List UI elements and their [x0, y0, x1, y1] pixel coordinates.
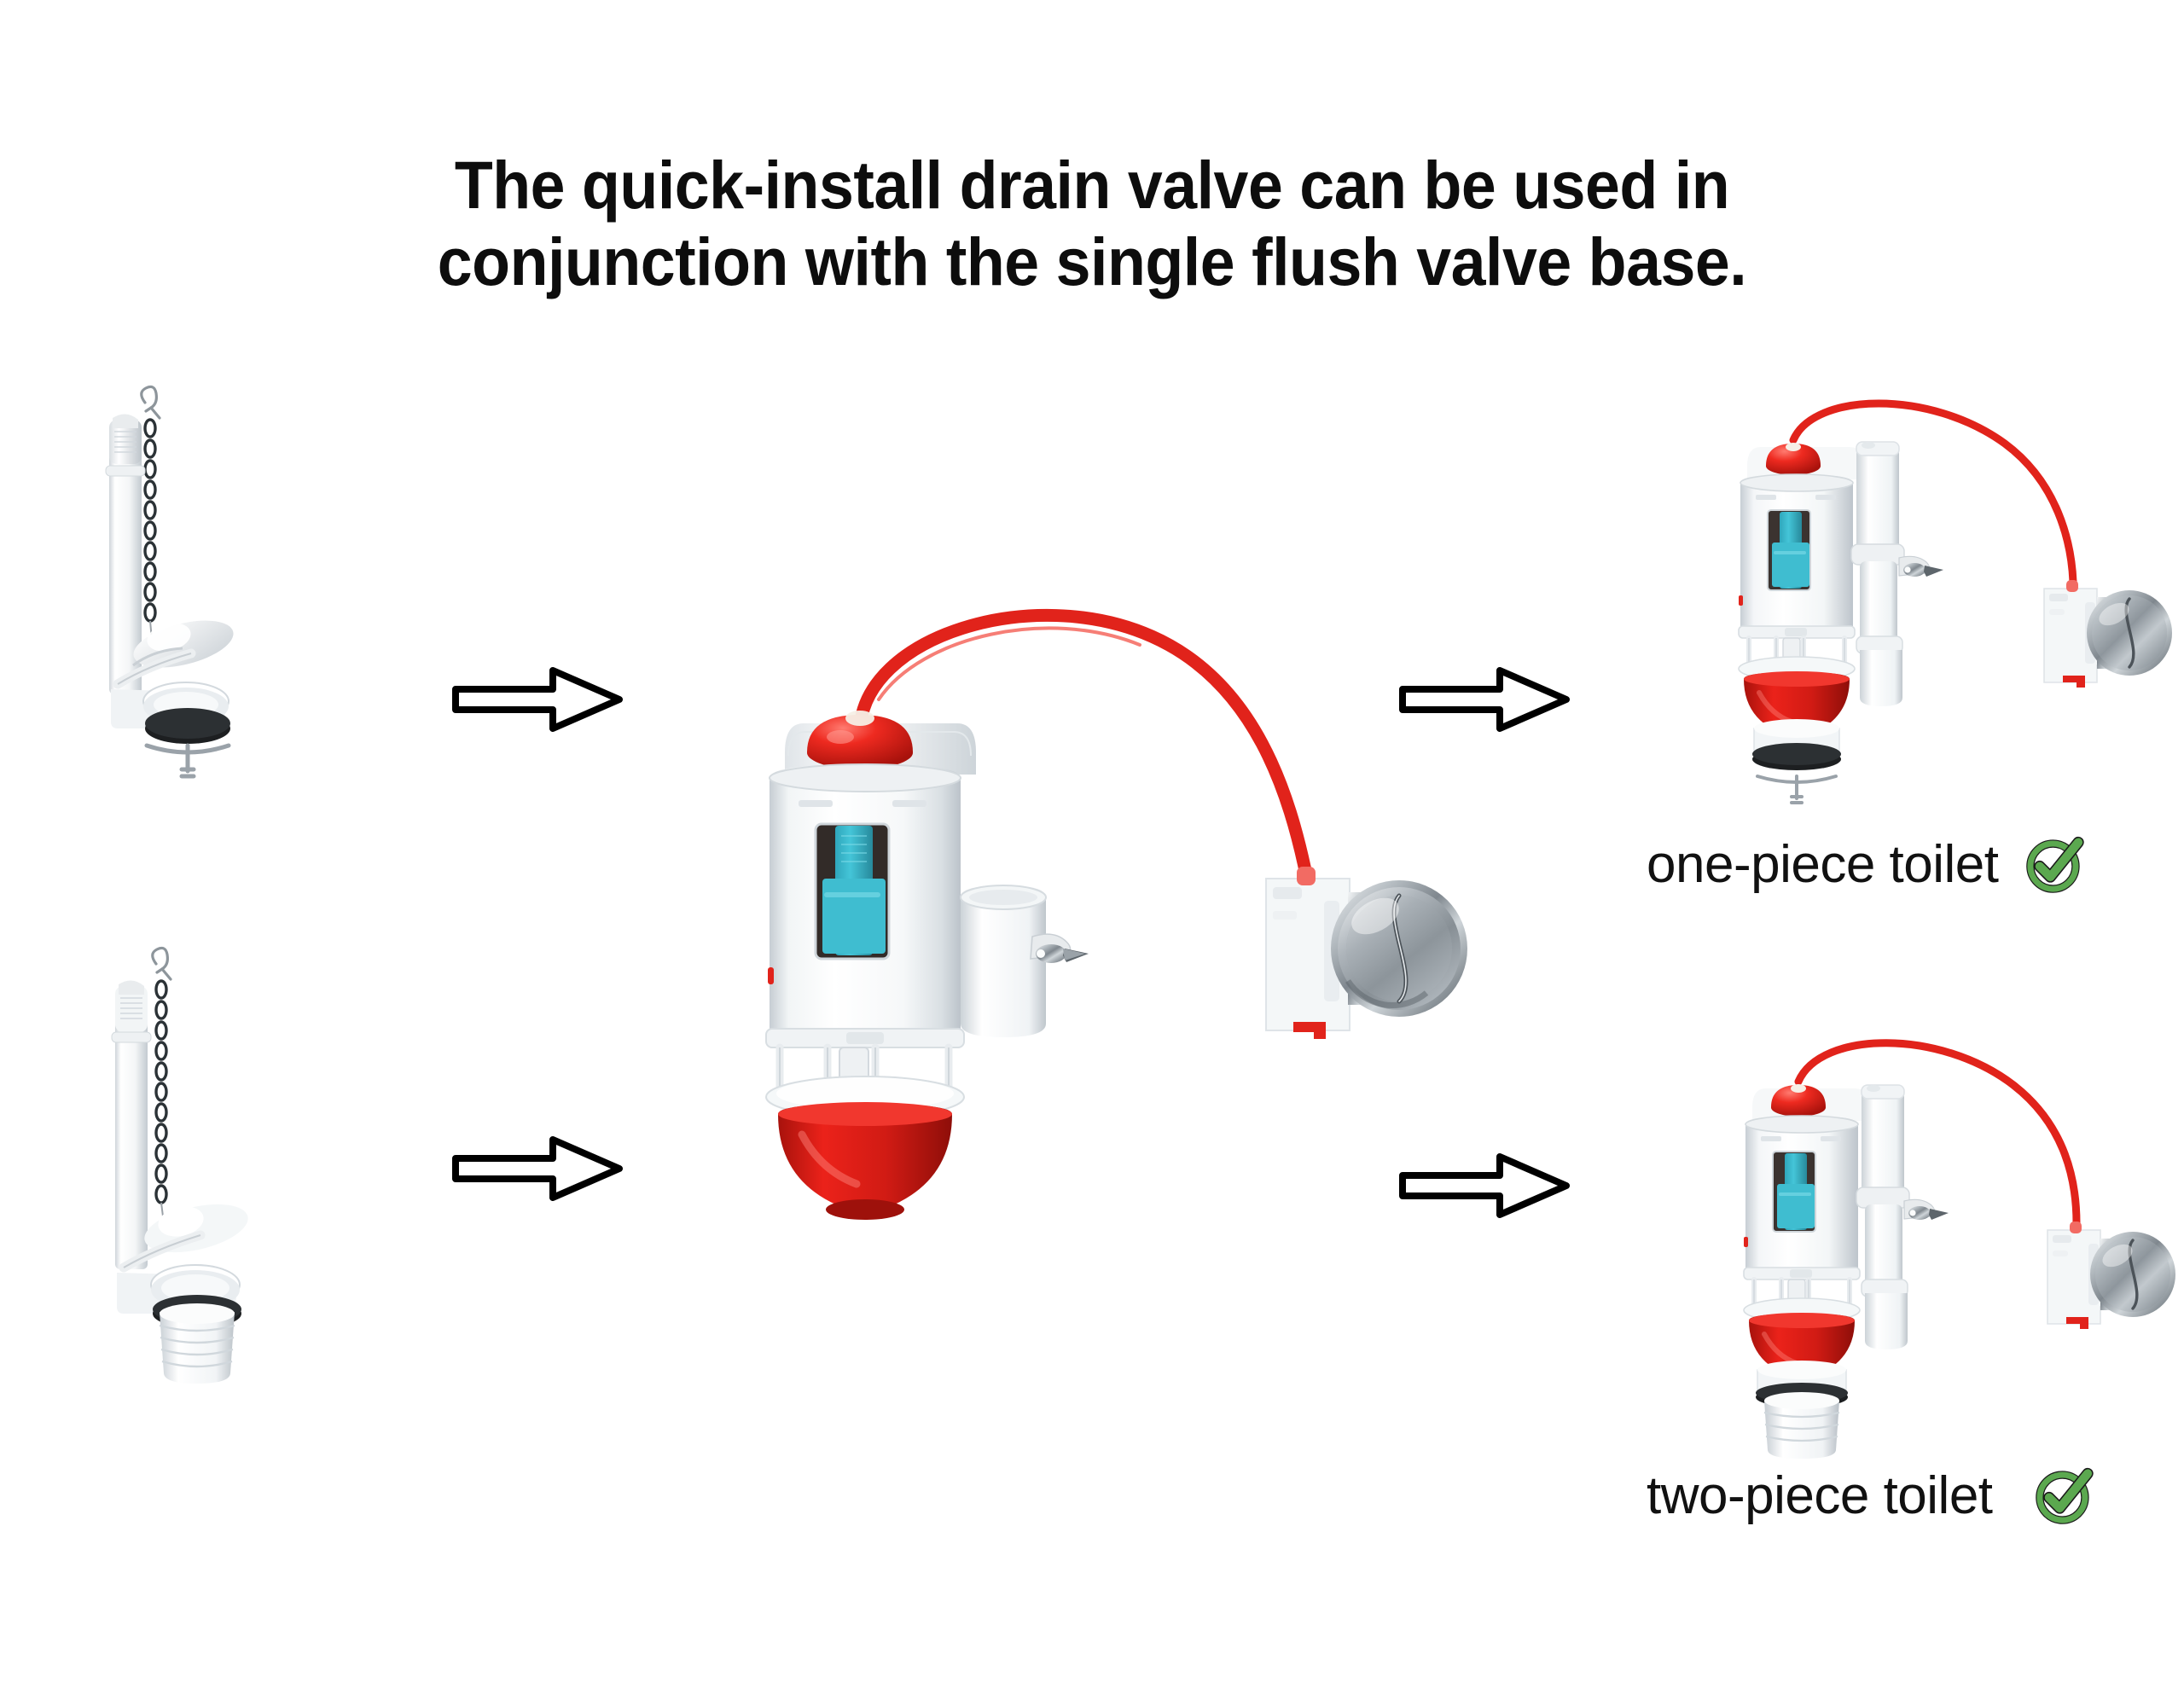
red-seal [778, 1102, 952, 1220]
rubber-gasket [145, 708, 230, 744]
teal-float-window [1773, 1152, 1815, 1232]
green-check-circle-icon [2030, 1463, 2097, 1529]
chrome-push-button-assembly [2047, 1221, 2175, 1329]
valve-body [1739, 474, 1853, 626]
lift-chain [156, 981, 166, 1223]
valve-body [768, 764, 961, 1029]
label-one-piece-toilet: one-piece toilet [1647, 832, 2088, 898]
metal-clip-fitting [1904, 1199, 1949, 1220]
lift-chain [145, 420, 155, 640]
arrow-step-1-top [452, 657, 623, 742]
black-gasket [1752, 743, 1841, 770]
metal-bracket [147, 746, 229, 776]
overflow-tube [1851, 442, 1904, 706]
label-two-piece-toilet: two-piece toilet [1647, 1463, 2097, 1529]
valve-body [1744, 1116, 1858, 1268]
chrome-push-button-assembly [2044, 580, 2172, 688]
threaded-shank [1764, 1392, 1839, 1459]
red-dome-cap [807, 711, 913, 769]
label-two-piece-toilet-text: two-piece toilet [1647, 1470, 1993, 1523]
metal-clip-fitting [1899, 556, 1943, 577]
lift-chain-hook [142, 386, 160, 418]
arrow-step-2-bottom [1399, 1143, 1570, 1228]
product-assembly-two-piece-toilet [1732, 1015, 2175, 1467]
arrow-step-2-top [1399, 657, 1570, 742]
label-one-piece-toilet-text: one-piece toilet [1647, 838, 1999, 891]
overflow-tube [112, 980, 151, 1269]
page-title: The quick-install drain valve can be use… [77, 147, 2108, 300]
product-assembly-one-piece-toilet [1732, 384, 2175, 819]
metal-bracket [1757, 776, 1836, 803]
green-check-circle-icon [2021, 832, 2088, 898]
infographic-canvas: The quick-install drain valve can be use… [0, 0, 2184, 1706]
product-flapper-flush-valve-threaded-base [98, 947, 316, 1442]
metal-clip-fitting [1031, 934, 1089, 963]
teal-float-window [1768, 510, 1810, 590]
threaded-shank [160, 1303, 235, 1384]
chrome-push-button-assembly [1266, 867, 1467, 1039]
product-flapper-flush-valve-bracket-base [94, 384, 307, 819]
product-quick-install-drain-valve-main [751, 554, 1459, 1254]
lift-chain-hook [153, 948, 171, 979]
overflow-side-tube [961, 885, 1046, 1037]
arrow-step-1-bottom [452, 1126, 623, 1211]
overflow-tube [1856, 1085, 1909, 1349]
teal-float-window [816, 824, 889, 959]
